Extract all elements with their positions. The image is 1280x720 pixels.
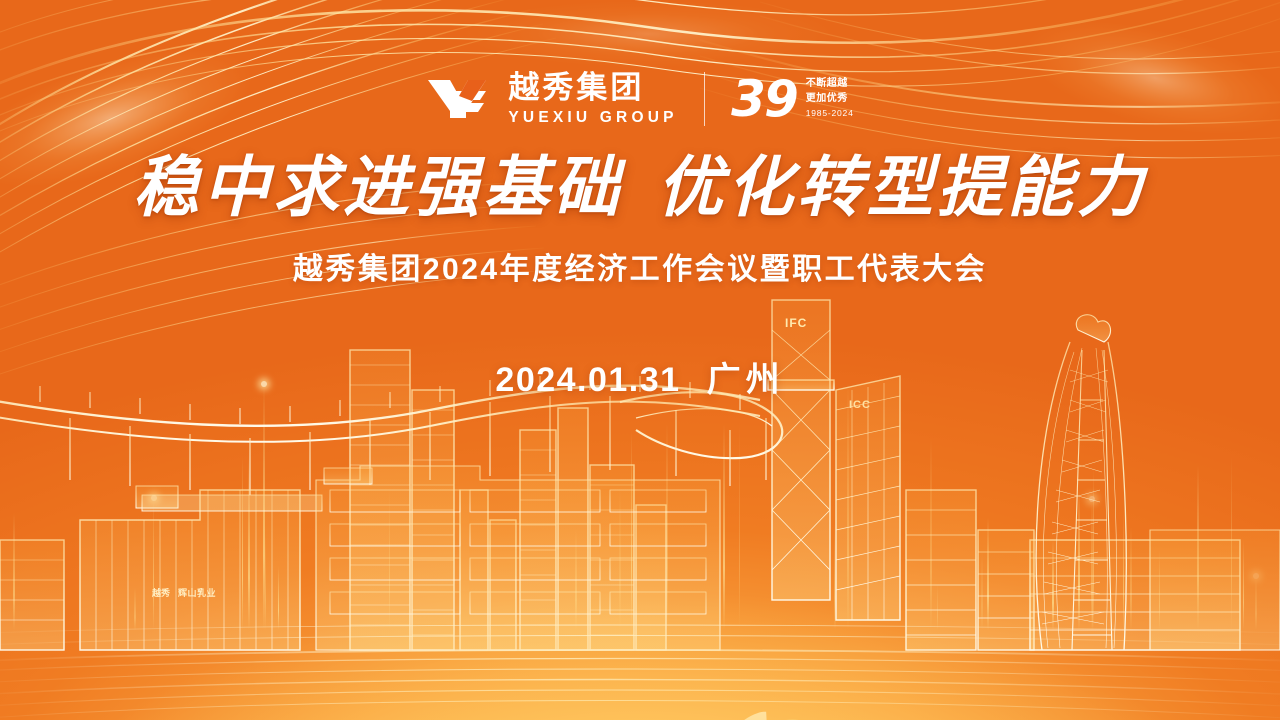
light-streak	[1052, 540, 1054, 630]
light-streak	[1159, 550, 1161, 630]
ground-glow	[0, 490, 1280, 720]
light-streak	[1243, 539, 1245, 630]
poster-canvas: 越秀集团 YUEXIU GROUP 39 不断超越 更加优秀 1985-2024…	[0, 0, 1280, 720]
light-streak	[1255, 576, 1257, 630]
anniversary-tagline-line2: 更加优秀	[806, 93, 854, 106]
light-streak	[631, 431, 633, 630]
light-streak	[1092, 583, 1094, 630]
light-streak	[981, 552, 983, 630]
brand-name-en: YUEXIU GROUP	[508, 110, 677, 126]
light-streak	[242, 456, 244, 630]
light-streak	[575, 529, 577, 630]
brand-name-cn: 越秀集团	[508, 72, 677, 103]
light-streak	[1123, 511, 1125, 630]
light-streak	[1093, 467, 1095, 630]
page-subtitle: 越秀集团2024年度经济工作会议暨职工代表大会	[0, 244, 1280, 288]
logo-divider	[704, 72, 706, 126]
light-streak	[265, 533, 267, 630]
page-title: 稳中求进强基础优化转型提能力	[0, 152, 1280, 223]
light-streak	[153, 498, 155, 630]
vertical-light-streaks	[0, 300, 1280, 630]
headline-part-1: 稳中求进强基础	[133, 148, 623, 226]
light-streak	[13, 513, 15, 630]
light-streak	[666, 422, 668, 630]
light-streak	[134, 588, 136, 630]
light-streak	[930, 437, 932, 630]
light-streak	[739, 421, 741, 630]
light-streak	[278, 566, 280, 630]
anniversary-text-block: 不断超越 更加优秀 1985-2024	[806, 78, 854, 119]
headline-part-2: 优化转型提能力	[657, 148, 1147, 226]
light-streak	[248, 456, 250, 630]
light-streak	[1078, 491, 1080, 630]
brand-lockup: 越秀集团 YUEXIU GROUP	[508, 72, 677, 126]
building-label-ifc: IFC	[785, 316, 807, 330]
event-date: 2024.01.31	[495, 361, 680, 399]
light-streak	[515, 515, 517, 630]
building-label-bank: 越秀	[152, 586, 170, 599]
light-streak	[834, 523, 836, 630]
anniversary-years: 1985-2024	[806, 108, 854, 119]
light-streak	[619, 487, 621, 630]
yuexiu-logo-mark	[426, 77, 488, 121]
light-streak	[723, 423, 725, 630]
light-streak	[1091, 499, 1093, 630]
anniversary-tagline-line1: 不断超越	[806, 78, 854, 91]
light-streak	[937, 584, 939, 630]
light-streak	[1197, 465, 1199, 630]
light-streak	[389, 489, 391, 630]
light-streak	[987, 518, 989, 630]
light-streak	[1130, 527, 1132, 630]
building-label-dairy: 辉山乳业	[178, 586, 216, 599]
light-streak	[263, 384, 265, 630]
brand-header: 越秀集团 YUEXIU GROUP 39 不断超越 更加优秀 1985-2024	[0, 72, 1280, 126]
event-dateline: 2024.01.31广州	[0, 352, 1280, 401]
light-streak	[847, 382, 849, 630]
light-streak	[1231, 455, 1233, 630]
anniversary-number: 39	[731, 74, 797, 124]
event-city: 广州	[707, 361, 785, 399]
anniversary-badge: 39 不断超越 更加优秀 1985-2024	[731, 74, 853, 124]
